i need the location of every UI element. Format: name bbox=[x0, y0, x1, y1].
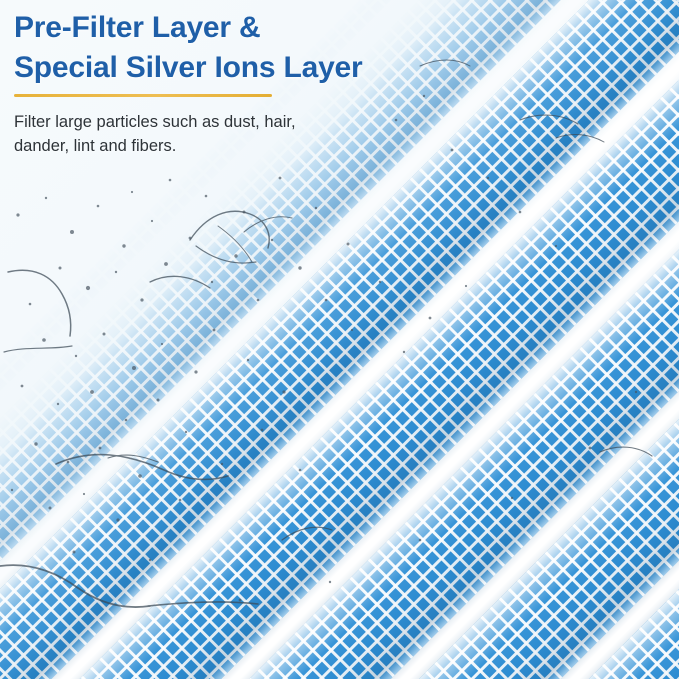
description-line-1: Filter large particles such as dust, hai… bbox=[14, 111, 574, 134]
description-line-2: dander, lint and fibers. bbox=[14, 135, 574, 158]
page-title-line-2: Special Silver Ions Layer bbox=[14, 48, 574, 88]
page-title: Pre-Filter Layer & Special Silver Ions L… bbox=[14, 8, 574, 87]
title-divider bbox=[14, 94, 272, 97]
page-title-line-1: Pre-Filter Layer & bbox=[14, 8, 574, 48]
infographic-panel: Pre-Filter Layer & Special Silver Ions L… bbox=[0, 0, 679, 679]
description-text: Filter large particles such as dust, hai… bbox=[14, 111, 574, 158]
text-block: Pre-Filter Layer & Special Silver Ions L… bbox=[14, 8, 574, 158]
